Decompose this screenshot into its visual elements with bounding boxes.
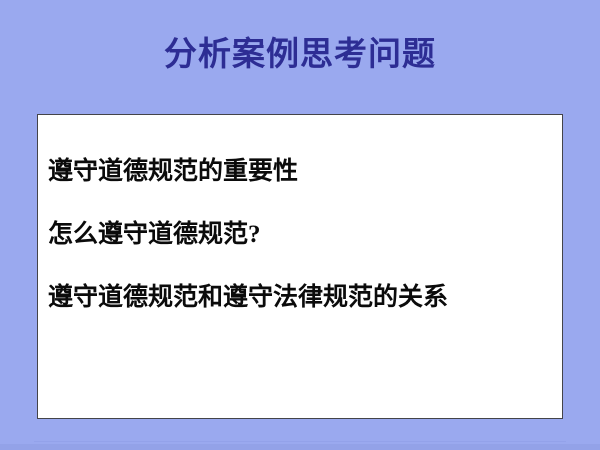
- presentation-slide: 分析案例思考问题 遵守道德规范的重要性 怎么遵守道德规范? 遵守道德规范和遵守法…: [0, 0, 600, 450]
- bullet-list: 遵守道德规范的重要性 怎么遵守道德规范? 遵守道德规范和遵守法律规范的关系: [48, 159, 552, 310]
- list-item: 遵守道德规范和遵守法律规范的关系: [48, 285, 552, 310]
- bottom-edge-band: [0, 444, 600, 450]
- content-box: 遵守道德规范的重要性 怎么遵守道德规范? 遵守道德规范和遵守法律规范的关系: [37, 114, 563, 419]
- page-title: 分析案例思考问题: [0, 34, 600, 76]
- list-item: 遵守道德规范的重要性: [48, 159, 552, 184]
- bottom-divider: [34, 441, 566, 442]
- list-item: 怎么遵守道德规范?: [48, 222, 552, 247]
